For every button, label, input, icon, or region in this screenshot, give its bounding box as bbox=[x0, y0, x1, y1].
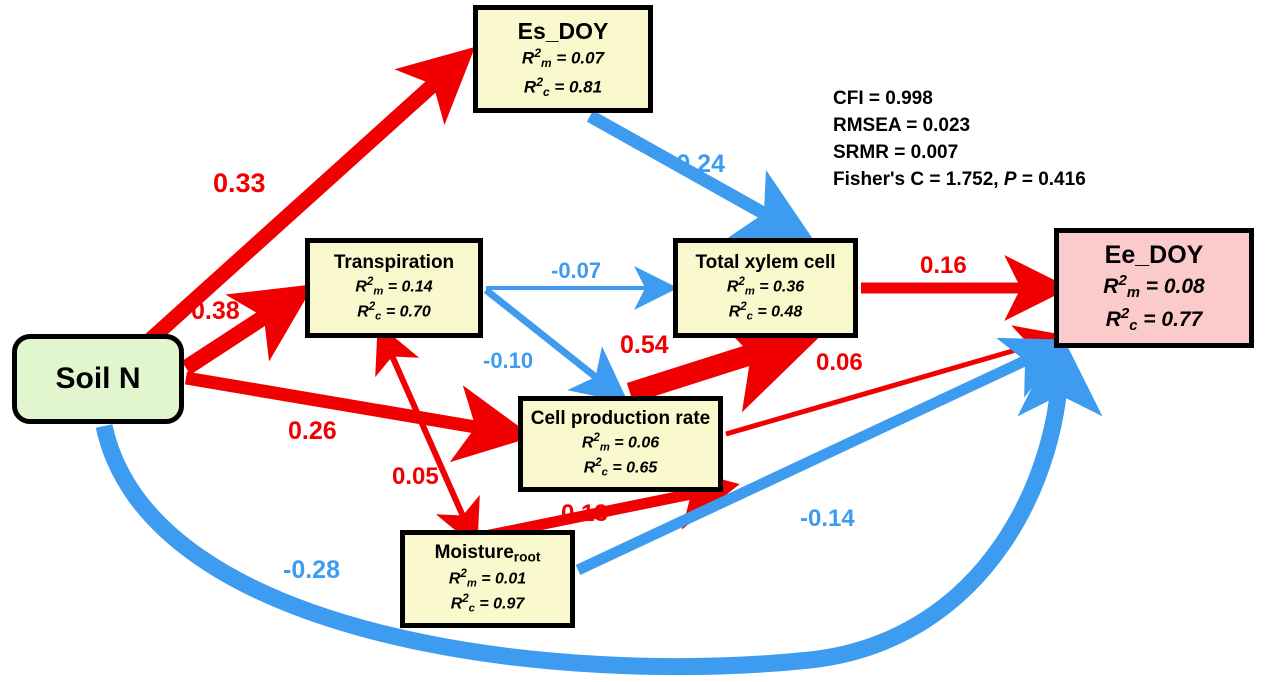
path-label-cellprod-eedoy: 0.06 bbox=[816, 349, 863, 377]
node-moisture-root-r2c: R2c = 0.97 bbox=[451, 593, 525, 615]
node-total-xylem-cell[interactable]: Total xylem cell R2m = 0.36 R2c = 0.48 bbox=[673, 238, 858, 338]
node-ee-doy-r2m: R2m = 0.08 bbox=[1103, 273, 1204, 301]
path-label-moisture-transpiration: 0.05 bbox=[392, 463, 439, 491]
path-label-esdoy-xylem: -0.24 bbox=[668, 150, 725, 179]
path-label-soiln-cellprod: 0.26 bbox=[288, 417, 337, 446]
node-cell-production-rate-r2c: R2c = 0.65 bbox=[584, 457, 658, 479]
node-cell-production-rate-r2m: R2m = 0.06 bbox=[582, 432, 659, 454]
path-label-moisture-cellprod: 0.13 bbox=[561, 500, 608, 528]
node-moisture-root[interactable]: Moistureroot R2m = 0.01 R2c = 0.97 bbox=[400, 530, 575, 628]
node-total-xylem-cell-label: Total xylem cell bbox=[695, 253, 835, 273]
node-es-doy-r2c: R2c = 0.81 bbox=[524, 76, 602, 99]
node-es-doy-label: Es_DOY bbox=[518, 19, 609, 43]
node-soil-n-label: Soil N bbox=[55, 363, 140, 395]
node-transpiration-r2m: R2m = 0.14 bbox=[355, 276, 432, 298]
path-label-transpiration-xylem: -0.07 bbox=[551, 258, 601, 284]
fit-rmsea: RMSEA = 0.023 bbox=[833, 113, 1086, 140]
path-label-cellprod-xylem: 0.54 bbox=[620, 331, 669, 360]
node-total-xylem-cell-r2c: R2c = 0.48 bbox=[729, 301, 803, 323]
arrow-transpiration-cellprod bbox=[486, 290, 612, 390]
node-ee-doy-r2c: R2c = 0.77 bbox=[1106, 306, 1203, 334]
path-label-soiln-transpiration: 0.38 bbox=[191, 297, 240, 326]
path-label-soiln-eedoy: -0.28 bbox=[283, 556, 340, 585]
node-soil-n[interactable]: Soil N bbox=[12, 334, 184, 424]
node-cell-production-rate[interactable]: Cell production rate R2m = 0.06 R2c = 0.… bbox=[518, 396, 723, 492]
node-es-doy[interactable]: Es_DOY R2m = 0.07 R2c = 0.81 bbox=[473, 5, 653, 113]
node-moisture-root-r2m: R2m = 0.01 bbox=[449, 568, 526, 590]
sem-path-diagram: Soil N Es_DOY R2m = 0.07 R2c = 0.81 Tran… bbox=[0, 0, 1269, 682]
fit-statistics-block: CFI = 0.998 RMSEA = 0.023 SRMR = 0.007 F… bbox=[833, 86, 1086, 194]
node-transpiration-r2c: R2c = 0.70 bbox=[357, 301, 431, 323]
fit-cfi: CFI = 0.998 bbox=[833, 86, 1086, 113]
path-label-transpiration-cellprod: -0.10 bbox=[483, 348, 533, 374]
node-cell-production-rate-label: Cell production rate bbox=[531, 409, 710, 429]
path-label-moisture-eedoy: -0.14 bbox=[800, 505, 855, 533]
node-moisture-root-label: Moistureroot bbox=[435, 543, 541, 565]
path-label-xylem-eedoy: 0.16 bbox=[920, 252, 967, 280]
arrow-moisture-transpiration bbox=[385, 340, 470, 532]
node-es-doy-r2m: R2m = 0.07 bbox=[522, 47, 604, 70]
node-total-xylem-cell-r2m: R2m = 0.36 bbox=[727, 276, 804, 298]
node-transpiration[interactable]: Transpiration R2m = 0.14 R2c = 0.70 bbox=[305, 238, 483, 338]
node-transpiration-label: Transpiration bbox=[334, 253, 454, 273]
node-ee-doy[interactable]: Ee_DOY R2m = 0.08 R2c = 0.77 bbox=[1054, 228, 1254, 348]
arrow-soiln-cellprod bbox=[186, 378, 505, 432]
path-label-soiln-esdoy: 0.33 bbox=[213, 168, 266, 199]
fit-srmr: SRMR = 0.007 bbox=[833, 140, 1086, 167]
node-ee-doy-label: Ee_DOY bbox=[1105, 242, 1204, 268]
fit-fishers-c: Fisher's C = 1.752, P = 0.416 bbox=[833, 167, 1086, 194]
